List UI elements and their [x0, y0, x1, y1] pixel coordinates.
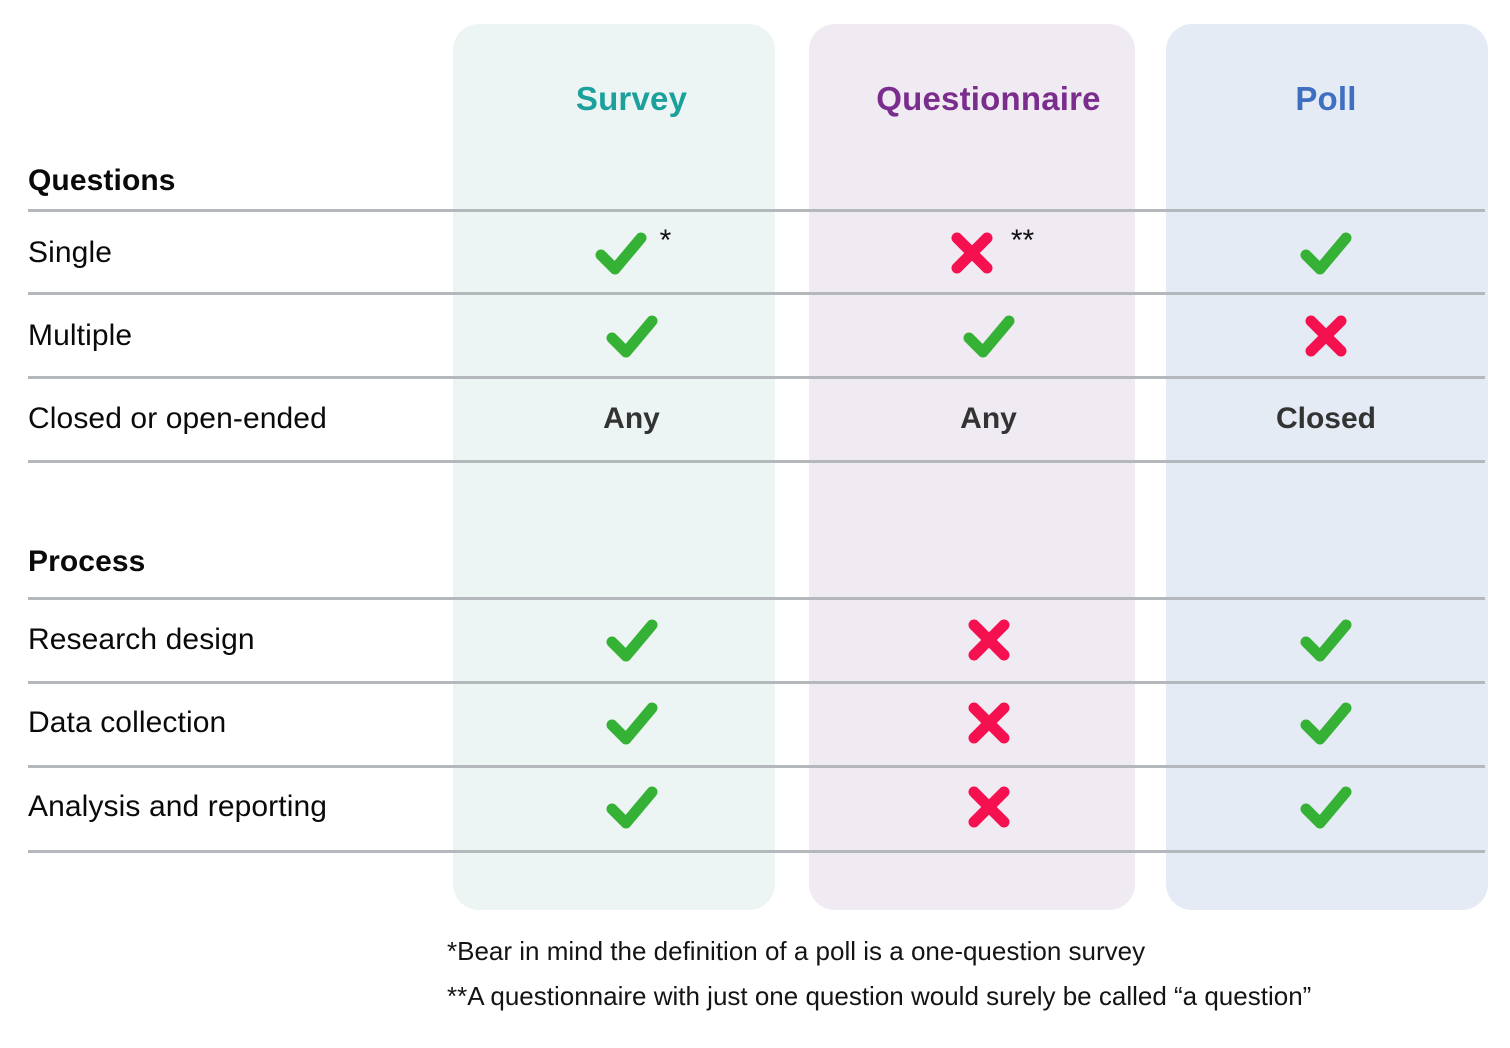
cross-icon — [960, 778, 1018, 836]
footnotes: *Bear in mind the definition of a poll i… — [447, 938, 1407, 1028]
cell-survey — [453, 778, 810, 836]
footnote-marker: * — [660, 226, 672, 256]
cell-questionnaire — [810, 694, 1167, 752]
mark-wrap: * — [592, 224, 672, 282]
comparison-table: Survey Questionnaire Poll QuestionsSingl… — [0, 0, 1510, 1048]
cell-questionnaire — [810, 307, 1167, 365]
mark-wrap — [960, 307, 1018, 365]
check-icon — [603, 694, 661, 752]
row-label: Multiple — [28, 319, 453, 353]
mark-wrap — [603, 307, 661, 365]
cell-survey: * — [453, 224, 810, 282]
table-header-row: Survey Questionnaire Poll — [28, 74, 1485, 124]
cross-icon — [943, 224, 1001, 282]
footnote-1: *Bear in mind the definition of a poll i… — [447, 938, 1407, 964]
cell-poll — [1167, 611, 1485, 669]
mark-wrap: ** — [943, 224, 1034, 282]
cell-questionnaire — [810, 611, 1167, 669]
footnote-2: **A questionnaire with just one question… — [447, 983, 1407, 1009]
cell-poll — [1167, 307, 1485, 365]
table-row: Data collection — [28, 698, 1485, 748]
cell-survey — [453, 307, 810, 365]
check-icon — [592, 224, 650, 282]
row-divider — [28, 597, 1485, 600]
check-icon — [960, 307, 1018, 365]
section-title: Process — [28, 545, 453, 579]
row-label: Closed or open-ended — [28, 402, 453, 436]
row-divider — [28, 460, 1485, 463]
footnote-marker: ** — [1011, 226, 1034, 256]
cell-questionnaire — [810, 778, 1167, 836]
cell-poll — [1167, 694, 1485, 752]
row-label: Data collection — [28, 706, 453, 740]
column-header-label-poll: Poll — [1295, 80, 1356, 118]
table-row: Research design — [28, 615, 1485, 665]
check-icon — [1297, 778, 1355, 836]
check-icon — [1297, 694, 1355, 752]
mark-wrap — [960, 778, 1018, 836]
cell-poll — [1167, 778, 1485, 836]
cell-poll: Closed — [1167, 402, 1485, 436]
cell-text-value: Any — [603, 402, 660, 436]
mark-wrap — [603, 611, 661, 669]
section-header-row: Process — [28, 537, 1485, 587]
row-label: Analysis and reporting — [28, 790, 453, 824]
row-divider — [28, 681, 1485, 684]
row-divider — [28, 850, 1485, 853]
table-row: Multiple — [28, 311, 1485, 361]
column-header-poll: Poll — [1167, 80, 1485, 118]
mark-wrap — [1297, 694, 1355, 752]
mark-wrap — [1297, 307, 1355, 365]
row-divider — [28, 376, 1485, 379]
cell-survey: Any — [453, 402, 810, 436]
mark-wrap — [603, 694, 661, 752]
check-icon — [603, 611, 661, 669]
row-divider — [28, 765, 1485, 768]
mark-wrap — [960, 611, 1018, 669]
row-divider — [28, 292, 1485, 295]
table-row: Analysis and reporting — [28, 782, 1485, 832]
column-header-label-survey: Survey — [576, 80, 687, 118]
cross-icon — [960, 611, 1018, 669]
table-row: Single*** — [28, 228, 1485, 278]
cell-survey — [453, 694, 810, 752]
section-header-row: Questions — [28, 156, 1485, 206]
column-header-survey: Survey — [453, 80, 810, 118]
mark-wrap — [603, 778, 661, 836]
section-title: Questions — [28, 164, 453, 198]
mark-wrap — [1297, 778, 1355, 836]
cell-text-value: Closed — [1276, 402, 1376, 436]
column-header-label-questionnaire: Questionnaire — [876, 80, 1100, 118]
check-icon — [603, 307, 661, 365]
mark-wrap — [960, 694, 1018, 752]
cell-questionnaire: ** — [810, 224, 1167, 282]
column-header-questionnaire: Questionnaire — [810, 80, 1167, 118]
cell-text-value: Any — [960, 402, 1017, 436]
cell-survey — [453, 611, 810, 669]
check-icon — [1297, 224, 1355, 282]
row-label: Single — [28, 236, 453, 270]
check-icon — [1297, 611, 1355, 669]
table-row: Closed or open-endedAnyAnyClosed — [28, 394, 1485, 444]
mark-wrap — [1297, 611, 1355, 669]
cross-icon — [960, 694, 1018, 752]
check-icon — [603, 778, 661, 836]
row-divider — [28, 209, 1485, 212]
row-label: Research design — [28, 623, 453, 657]
mark-wrap — [1297, 224, 1355, 282]
cell-poll — [1167, 224, 1485, 282]
cross-icon — [1297, 307, 1355, 365]
cell-questionnaire: Any — [810, 402, 1167, 436]
